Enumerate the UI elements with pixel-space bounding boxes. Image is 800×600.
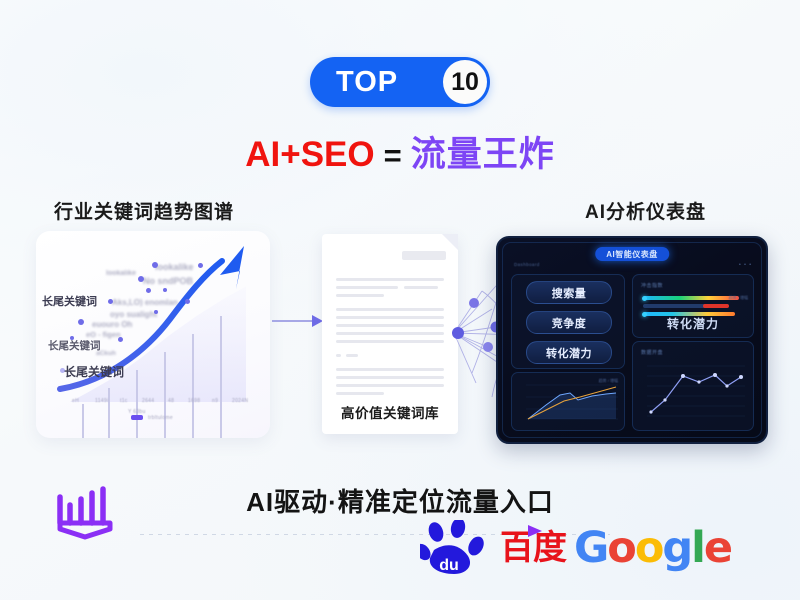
left-section-caption: 行业关键词趋势图谱 xyxy=(54,197,234,224)
network-node xyxy=(483,342,493,352)
trend-keyword-label: 长尾关键词 xyxy=(64,363,124,380)
doc-text-line xyxy=(336,324,444,327)
baidu-du-text: du xyxy=(439,557,459,574)
doc-text-line xyxy=(336,278,444,281)
gradient-bar-primary xyxy=(643,296,739,300)
metric-pill-competition[interactable]: 竞争度 xyxy=(526,311,612,334)
footer-tagline: AI驱动·精准定位流量入口 xyxy=(0,482,800,519)
area-panel-legend: 趋势 / 增幅 xyxy=(599,378,618,384)
headline-right: 流量王炸 xyxy=(411,135,555,174)
trend-node-dot xyxy=(163,288,167,292)
doc-text-line xyxy=(336,332,444,335)
doc-text-line xyxy=(336,376,444,379)
document-caption: 高价值关键词库 xyxy=(322,402,458,422)
trend-axis-tick: 1698 xyxy=(188,398,200,404)
flow-arrow-icon xyxy=(272,312,324,330)
trend-legend-swatch xyxy=(131,415,143,420)
gauge-tick: 趋势 / 增幅 xyxy=(729,295,748,301)
headline-equals: = xyxy=(384,138,402,173)
trend-node-dot xyxy=(138,276,144,282)
trend-node-dot xyxy=(185,299,190,304)
metric-pill-conversion[interactable]: 转化潜力 xyxy=(526,341,612,364)
trend-axis-tick: t1c xyxy=(120,398,128,404)
doc-text-line xyxy=(346,354,358,357)
doc-text-line xyxy=(336,308,444,311)
network-node xyxy=(469,298,479,308)
trend-blurred-word: euouro Oh xyxy=(92,320,132,329)
trend-node-dot xyxy=(152,262,158,268)
doc-text-line xyxy=(336,286,398,289)
metrics-panel: 搜索量 竞争度 转化潜力 xyxy=(511,274,625,369)
conversion-potential-label: 转化潜力 xyxy=(633,315,753,332)
trend-blurred-word: oyo sualight xyxy=(110,310,157,319)
google-letter-g2: g xyxy=(662,523,691,573)
doc-text-line xyxy=(404,286,438,289)
doc-text-line xyxy=(336,384,444,387)
slide-canvas: TOP 10 AI+SEO=流量王炸 行业关键词趋势图谱 AI分析仪表盘 xyxy=(0,0,800,600)
trend-blurred-word: Aks,LO) enomlan xyxy=(112,298,178,307)
headline-left: AI+SEO xyxy=(245,135,374,174)
trend-node-dot xyxy=(108,299,113,304)
trend-blurred-word: lookalike xyxy=(106,270,136,277)
google-letter-o1: o xyxy=(607,523,635,573)
trend-blurred-word: eO - figen xyxy=(86,330,121,339)
trend-node-dot xyxy=(60,368,65,373)
google-letter-e: e xyxy=(704,523,731,573)
trend-axis-tick: eH xyxy=(72,398,79,404)
data-panel-title: 数据开盘 xyxy=(641,349,663,356)
doc-text-line xyxy=(336,392,384,395)
ai-dashboard-panel: AI智能仪表盘 Dashboard • • • 搜索量 竞争度 转化潜力 冲击指… xyxy=(496,236,768,444)
trend-legend-label: trbltulome xyxy=(148,415,173,421)
doc-bullet xyxy=(336,354,341,357)
trend-node-dot xyxy=(146,288,151,293)
play-triangle-icon xyxy=(524,523,546,539)
dashboard-subtitle: Dashboard xyxy=(514,262,540,267)
badge-label: TOP xyxy=(336,68,398,97)
doc-text-line xyxy=(336,340,444,343)
badge-number: 10 xyxy=(443,60,487,104)
page-fold-icon xyxy=(442,234,458,250)
impact-panel-title: 冲击指数 xyxy=(641,282,663,289)
search-engine-logos: du 百度 Google xyxy=(420,520,731,576)
google-letter-o2: o xyxy=(635,523,663,573)
doc-text-line xyxy=(336,294,384,297)
trend-blurred-word: lookalike xyxy=(155,262,194,272)
top-rank-badge: TOP 10 xyxy=(310,57,490,107)
analytics-chart-icon xyxy=(48,483,120,545)
impact-index-panel: 冲击指数 趋势 / 增幅 转化潜力 xyxy=(632,274,754,338)
dashboard-title: AI智能仪表盘 xyxy=(595,247,669,261)
trend-node-dot xyxy=(154,310,158,314)
gradient-bar-alert xyxy=(703,304,729,308)
keyword-library-document: 高价值关键词库 xyxy=(322,234,458,434)
gauge-knob[interactable] xyxy=(642,296,647,301)
trend-area-panel: 趋势 / 增幅 xyxy=(511,372,625,431)
doc-text-line xyxy=(336,368,444,371)
doc-text-line xyxy=(336,316,444,319)
google-letter-l: l xyxy=(691,523,704,573)
page-title: AI+SEO=流量王炸 xyxy=(0,126,800,177)
trend-axis-tick: 2644 xyxy=(142,398,154,404)
trend-blurred-word: aCkuh xyxy=(96,350,116,357)
trend-node-dot xyxy=(78,319,84,325)
trend-node-dot xyxy=(118,337,123,342)
trend-node-dot xyxy=(70,336,74,340)
trend-keyword-label: 长尾关键词 xyxy=(42,293,97,309)
trend-node-dot xyxy=(198,263,203,268)
doc-header-chip xyxy=(402,251,446,260)
baidu-paw-icon: du xyxy=(420,520,492,576)
trend-axis-tick: 1149i xyxy=(95,398,108,404)
trend-axis-tick: 48 xyxy=(168,398,174,404)
google-letter-g: G xyxy=(574,523,607,573)
dashboard-menu-icon[interactable]: • • • xyxy=(739,262,752,268)
trend-axis-tick: 2024N xyxy=(232,398,248,404)
trend-keyword-label: 长尾关键词 xyxy=(48,338,101,353)
network-node xyxy=(452,327,464,339)
metric-pill-search-volume[interactable]: 搜索量 xyxy=(526,281,612,304)
trend-blurred-word: No sndPOB xyxy=(143,276,193,286)
data-chart-panel: 数据开盘 xyxy=(632,341,754,431)
right-section-caption: AI分析仪表盘 xyxy=(585,197,706,224)
google-wordmark: Google xyxy=(574,527,731,570)
trend-axis-tick: n9 xyxy=(212,398,218,404)
